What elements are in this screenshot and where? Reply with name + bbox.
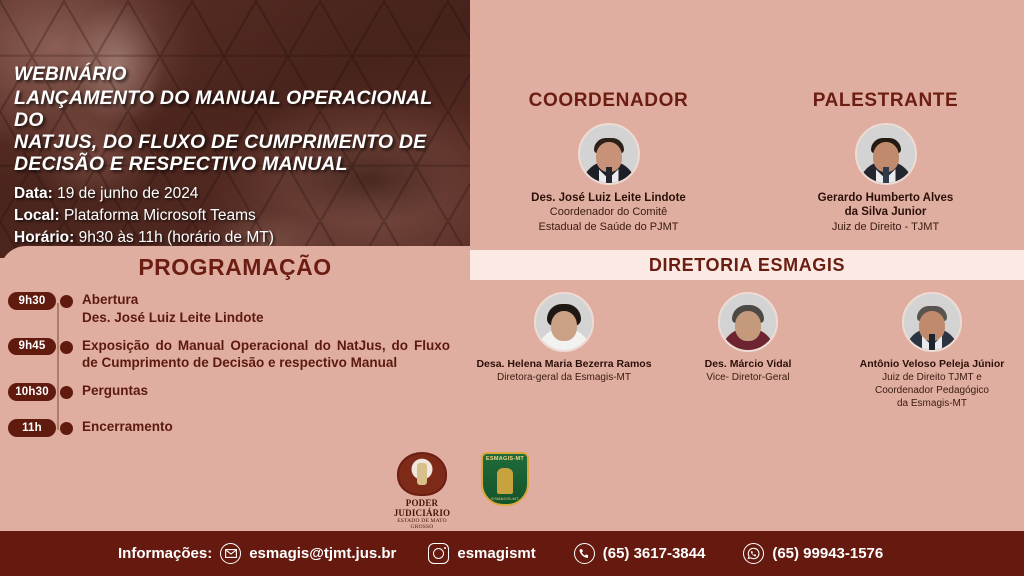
schedule-text: Perguntas (82, 382, 168, 400)
member-name: Desa. Helena Maria Bezerra Ramos (476, 358, 652, 371)
programacao-title: PROGRAMAÇÃO (0, 246, 470, 281)
schedule-item: 9h30 Abertura Des. José Luiz Leite Lindo… (0, 291, 470, 327)
schedule-title: Perguntas (82, 383, 148, 398)
diretoria-title: DIRETORIA ESMAGIS (649, 255, 845, 276)
justice-figure-icon (497, 468, 513, 494)
diretoria-members: Desa. Helena Maria Bezerra Ramos Diretor… (472, 292, 1024, 410)
schedule-time-badge: 11h (8, 419, 56, 437)
footer-email[interactable]: esmagis@tjmt.jus.br (220, 543, 396, 564)
schedule-item: 11h Encerramento (0, 418, 470, 444)
avatar (902, 292, 962, 352)
timeline-dot-icon (60, 386, 73, 399)
person-name: Des. José Luiz Leite Lindote (470, 191, 747, 205)
footer-phone-text: (65) 3617-3844 (603, 545, 706, 562)
diretoria-member: Des. Márcio Vidal Vice- Diretor-Geral (656, 292, 840, 410)
avatar (855, 123, 917, 185)
footer-whatsapp[interactable]: (65) 99943-1576 (743, 543, 883, 564)
footer-logos: PODER JUDICIÁRIO ESTADO DE MATO GROSSO E… (385, 452, 545, 520)
phone-icon (574, 543, 595, 564)
footer-whatsapp-text: (65) 99943-1576 (772, 545, 883, 562)
diretoria-banner: DIRETORIA ESMAGIS (470, 250, 1024, 280)
member-name: Antônio Veloso Peleja Júnior (844, 358, 1020, 371)
esmagis-logo-base: ESMAGIS-MT (483, 496, 527, 501)
person-role-line: Coordenador do Comitê (470, 205, 747, 219)
meta-date: Data: 19 de junho de 2024 (14, 183, 274, 205)
person-name-line: Gerardo Humberto Alves (747, 191, 1024, 205)
diretoria-member: Antônio Veloso Peleja Júnior Juiz de Dir… (840, 292, 1024, 410)
member-role-line: da Esmagis-MT (844, 397, 1020, 410)
meta-date-value: 19 de junho de 2024 (57, 185, 198, 202)
schedule-text: Encerramento (82, 418, 193, 436)
person-coordenador: COORDENADOR Des. José Luiz Leite Lindote… (470, 90, 747, 234)
schedule-subtitle: Des. José Luiz Leite Lindote (82, 309, 264, 327)
schedule-text: Abertura Des. José Luiz Leite Lindote (82, 291, 284, 327)
footer-info-label: Informações: (118, 545, 212, 562)
schedule-time-badge: 10h30 (8, 383, 56, 401)
judiciary-emblem-icon (397, 452, 447, 496)
poster: WEBINÁRIO LANÇAMENTO DO MANUAL OPERACION… (0, 0, 1024, 576)
envelope-icon (220, 543, 241, 564)
title-line-2: NATJUS, DO FLUXO DE CUMPRIMENTO DE (14, 132, 462, 154)
schedule-time-badge: 9h45 (8, 338, 56, 356)
title-line-1: LANÇAMENTO DO MANUAL OPERACIONAL DO (14, 88, 462, 132)
esmagis-logo: ESMAGIS-MT ESMAGIS-MT (477, 452, 533, 506)
person-role-line: Estadual de Saúde do PJMT (470, 220, 747, 234)
featured-people: COORDENADOR Des. José Luiz Leite Lindote… (470, 90, 1024, 234)
member-role-line: Diretora-geral da Esmagis-MT (476, 371, 652, 384)
meta-time-value: 9h30 às 11h (horário de MT) (79, 229, 274, 246)
instagram-icon (428, 543, 449, 564)
judiciary-logo-line1: PODER JUDICIÁRIO (385, 498, 459, 518)
contact-footer: Informações: esmagis@tjmt.jus.br esmagis… (0, 531, 1024, 576)
avatar (578, 123, 640, 185)
schedule-item: 10h30 Perguntas (0, 382, 470, 408)
whatsapp-icon (743, 543, 764, 564)
role-title-coordenador: COORDENADOR (470, 90, 747, 112)
schedule-title: Exposição do Manual Operacional do NatJu… (82, 338, 450, 371)
esmagis-shield-icon: ESMAGIS-MT ESMAGIS-MT (481, 452, 529, 506)
meta-local-label: Local: (14, 207, 60, 224)
title-line-3: DECISÃO E RESPECTIVO MANUAL (14, 154, 462, 176)
footer-instagram-text: esmagismt (457, 545, 535, 562)
schedule-text: Exposição do Manual Operacional do NatJu… (82, 337, 470, 373)
role-title-palestrante: PALESTRANTE (747, 90, 1024, 112)
avatar (718, 292, 778, 352)
schedule-item: 9h45 Exposição do Manual Operacional do … (0, 337, 470, 373)
esmagis-logo-top: ESMAGIS-MT (483, 456, 527, 462)
schedule-time-badge: 9h30 (8, 292, 56, 310)
poder-judiciario-logo: PODER JUDICIÁRIO ESTADO DE MATO GROSSO (385, 452, 459, 530)
person-role-line: Juiz de Direito - TJMT (747, 220, 1024, 234)
schedule-title: Abertura (82, 292, 138, 307)
timeline-dot-icon (60, 341, 73, 354)
member-name: Des. Márcio Vidal (660, 358, 836, 371)
programacao-timeline: 9h30 Abertura Des. José Luiz Leite Lindo… (0, 291, 470, 444)
avatar (534, 292, 594, 352)
meta-time-label: Horário: (14, 229, 74, 246)
meta-local: Local: Plataforma Microsoft Teams (14, 205, 274, 227)
person-name-line: da Silva Junior (747, 205, 1024, 219)
diretoria-member: Desa. Helena Maria Bezerra Ramos Diretor… (472, 292, 656, 410)
timeline-dot-icon (60, 295, 73, 308)
webinar-kicker: WEBINÁRIO (14, 64, 462, 85)
hero-text-block: WEBINÁRIO LANÇAMENTO DO MANUAL OPERACION… (14, 64, 462, 176)
person-palestrante: PALESTRANTE Gerardo Humberto Alves da Si… (747, 90, 1024, 234)
member-role-line: Coordenador Pedagógico (844, 384, 1020, 397)
member-role-line: Juiz de Direito TJMT e (844, 371, 1020, 384)
footer-phone[interactable]: (65) 3617-3844 (574, 543, 706, 564)
footer-email-text: esmagis@tjmt.jus.br (249, 545, 396, 562)
member-role-line: Vice- Diretor-Geral (660, 371, 836, 384)
event-meta: Data: 19 de junho de 2024 Local: Platafo… (14, 183, 274, 249)
schedule-title: Encerramento (82, 419, 173, 434)
timeline-dot-icon (60, 422, 73, 435)
meta-date-label: Data: (14, 185, 53, 202)
meta-local-value: Plataforma Microsoft Teams (64, 207, 256, 224)
footer-instagram[interactable]: esmagismt (428, 543, 535, 564)
